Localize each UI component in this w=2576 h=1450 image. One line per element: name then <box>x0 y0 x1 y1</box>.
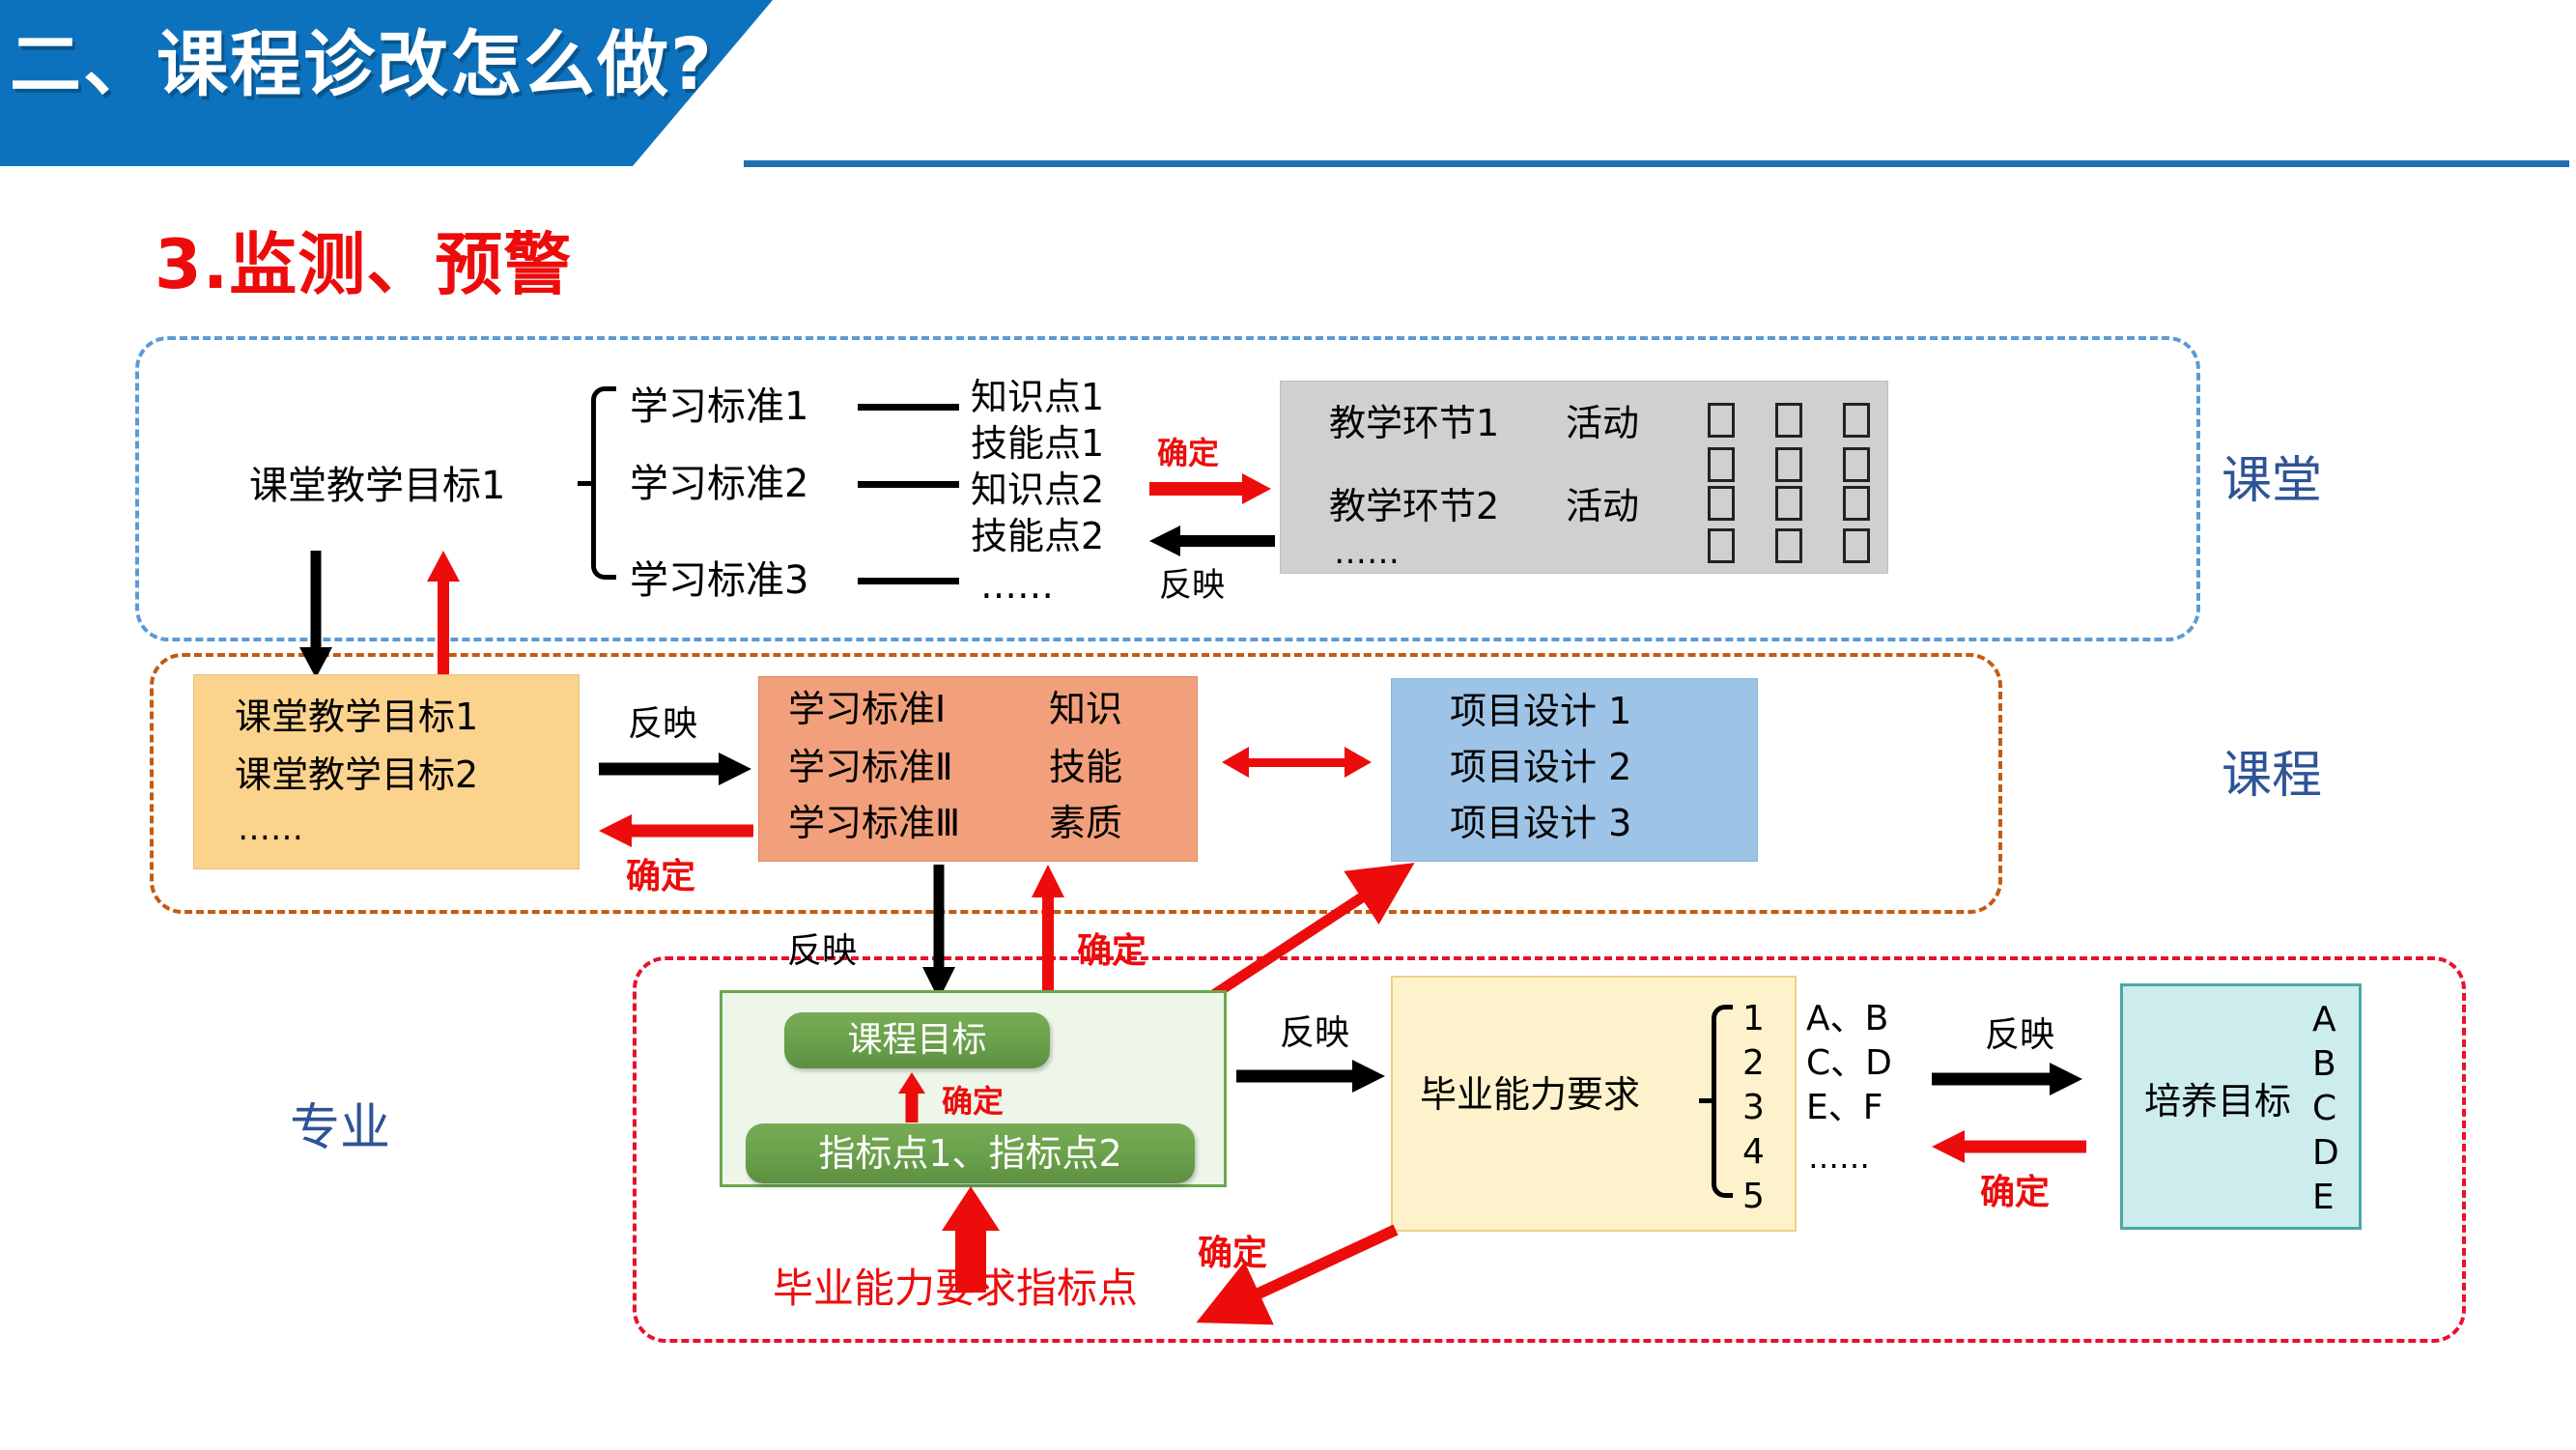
training-letter-a: A <box>2312 1000 2336 1039</box>
major-training-objective-box: 培养目标 A B C D E <box>2120 983 2362 1230</box>
page-title: 二、课程诊改怎么做? <box>10 12 744 118</box>
classroom-skill-point-2: 技能点2 <box>971 516 1104 558</box>
classroom-to-course-black-arrow-icon <box>301 551 330 678</box>
major-bottom-red-label: 毕业能力要求指标点 <box>773 1256 1138 1315</box>
major-reflect-arrow-icon <box>1236 1065 1386 1088</box>
zone-label-major: 专业 <box>290 1087 390 1159</box>
activity-ellipsis: …… <box>1334 534 1400 572</box>
header-divider-rule <box>744 160 2569 167</box>
course-standards-box: 学习标准Ⅰ 学习标准Ⅱ 学习标准Ⅲ 知识 技能 素质 <box>758 676 1198 862</box>
classroom-activity-box: 教学环节1 活动 教学环节2 活动 …… <box>1280 381 1888 574</box>
major-inner-confirm-label: 确定 <box>942 1077 1004 1122</box>
classroom-knowledge-point-1: 知识点1 <box>971 377 1104 419</box>
classroom-skill-point-1: 技能点1 <box>971 423 1104 466</box>
course-project-2: 项目设计 2 <box>1450 747 1631 789</box>
bridge-reflect-label: 反映 <box>787 923 857 973</box>
zone-label-course: 课程 <box>2222 734 2322 807</box>
training-letter-d: D <box>2312 1133 2339 1173</box>
activity-grid-cell <box>1775 486 1802 521</box>
graduation-brace <box>1712 1005 1733 1198</box>
classroom-confirm-arrow-icon <box>1149 477 1275 500</box>
classroom-points-ellipsis: …… <box>980 565 1054 608</box>
classroom-standard-1: 学习标准1 <box>630 384 808 429</box>
graduation-code-ellipsis: …… <box>1808 1140 1870 1176</box>
bridge-up-red-arrow-icon <box>1032 865 1064 1000</box>
course-dimension-2: 技能 <box>1049 747 1122 789</box>
training-box-title: 培养目标 <box>2144 1081 2291 1123</box>
classroom-confirm-label: 确定 <box>1157 429 1219 473</box>
classroom-connector-rule-3 <box>858 578 959 584</box>
course-reflect-label: 反映 <box>628 696 697 746</box>
course-reflect-arrow-icon <box>599 757 753 781</box>
course-goals-box: 课堂教学目标1 课堂教学目标2 …… <box>193 674 580 869</box>
major-graduation-requirements-box: 毕业能力要求 1 2 3 4 5 A、B C、D E、F …… <box>1391 976 1797 1232</box>
classroom-goal-text: 课堂教学目标1 <box>249 464 505 508</box>
course-projects-box: 项目设计 1 项目设计 2 项目设计 3 <box>1391 678 1758 862</box>
activity-grid-cell <box>1843 447 1870 482</box>
major-bottom-diagonal-red-arrow-icon <box>1188 1222 1410 1338</box>
major-far-reflect-arrow-icon <box>1932 1067 2086 1091</box>
activity-grid-cell <box>1775 447 1802 482</box>
training-letter-c: C <box>2312 1089 2336 1128</box>
major-far-confirm-arrow-icon <box>1932 1135 2086 1158</box>
classroom-connector-rule-2 <box>858 481 959 488</box>
classroom-reflect-label: 反映 <box>1159 558 1225 606</box>
activity-grid-cell <box>1708 447 1735 482</box>
graduation-number-3: 3 <box>1742 1088 1765 1127</box>
course-standard-2: 学习标准Ⅱ <box>788 747 953 789</box>
graduation-code-2: C、D <box>1806 1043 1892 1083</box>
course-project-3: 项目设计 3 <box>1450 803 1631 845</box>
classroom-connector-rule-1 <box>858 404 959 411</box>
major-indicator-points-pill: 指标点1、指标点2 <box>746 1123 1195 1183</box>
course-standard-3: 学习标准Ⅲ <box>788 803 960 845</box>
activity-stage-1: 教学环节1 <box>1329 403 1499 445</box>
classroom-standard-3: 学习标准3 <box>630 558 808 603</box>
course-dimension-3: 素质 <box>1049 803 1122 845</box>
course-goal-line-1: 课堂教学目标1 <box>235 697 478 739</box>
course-bidirectional-arrow-icon <box>1222 746 1372 779</box>
bridge-down-black-arrow-icon <box>922 865 955 1000</box>
major-reflect-label-right: 反映 <box>1280 1005 1349 1055</box>
section-heading: 3.监测、预警 <box>155 211 572 308</box>
course-dimension-1: 知识 <box>1049 689 1122 731</box>
training-letter-e: E <box>2312 1178 2335 1217</box>
graduation-number-5: 5 <box>1742 1177 1765 1216</box>
graduation-number-1: 1 <box>1742 999 1765 1038</box>
course-to-classroom-red-arrow-icon <box>429 551 458 678</box>
activity-grid-cell <box>1775 403 1802 438</box>
course-goal-ellipsis: …… <box>238 810 303 848</box>
activity-grid-cell <box>1775 528 1802 563</box>
activity-stage-2: 教学环节2 <box>1329 486 1499 528</box>
activity-name-1: 活动 <box>1566 403 1639 445</box>
major-inner-confirm-arrow-icon <box>898 1072 925 1123</box>
training-letter-b: B <box>2312 1044 2336 1084</box>
course-goal-line-2: 课堂教学目标2 <box>235 754 478 797</box>
major-reflect-label-far: 反映 <box>1985 1007 2054 1057</box>
graduation-number-4: 4 <box>1742 1132 1765 1172</box>
course-standard-1: 学习标准Ⅰ <box>788 689 946 731</box>
major-confirm-label-far: 确定 <box>1980 1164 2050 1214</box>
activity-grid-cell <box>1843 403 1870 438</box>
course-project-1: 项目设计 1 <box>1450 691 1631 733</box>
activity-grid-cell <box>1708 528 1735 563</box>
classroom-standards-brace <box>591 386 616 580</box>
header-banner: 二、课程诊改怎么做? <box>0 0 773 166</box>
bridge-confirm-label: 确定 <box>1077 923 1146 973</box>
graduation-box-title: 毕业能力要求 <box>1420 1074 1640 1117</box>
zone-label-classroom: 课堂 <box>2222 440 2322 512</box>
major-course-goal-pill: 课程目标 <box>784 1012 1050 1068</box>
activity-grid-cell <box>1843 528 1870 563</box>
classroom-knowledge-point-2: 知识点2 <box>971 469 1104 512</box>
classroom-reflect-arrow-icon <box>1149 529 1275 553</box>
activity-grid-cell <box>1843 486 1870 521</box>
activity-grid-cell <box>1708 486 1735 521</box>
classroom-standards-brace-tick <box>578 481 591 486</box>
graduation-code-3: E、F <box>1806 1088 1882 1127</box>
activity-name-2: 活动 <box>1566 486 1639 528</box>
graduation-code-1: A、B <box>1806 999 1888 1038</box>
course-confirm-arrow-icon <box>599 819 753 842</box>
graduation-number-2: 2 <box>1742 1043 1765 1083</box>
course-confirm-label: 确定 <box>626 848 695 898</box>
activity-grid-cell <box>1708 403 1735 438</box>
classroom-standard-2: 学习标准2 <box>630 462 808 506</box>
graduation-brace-tick <box>1699 1098 1713 1103</box>
